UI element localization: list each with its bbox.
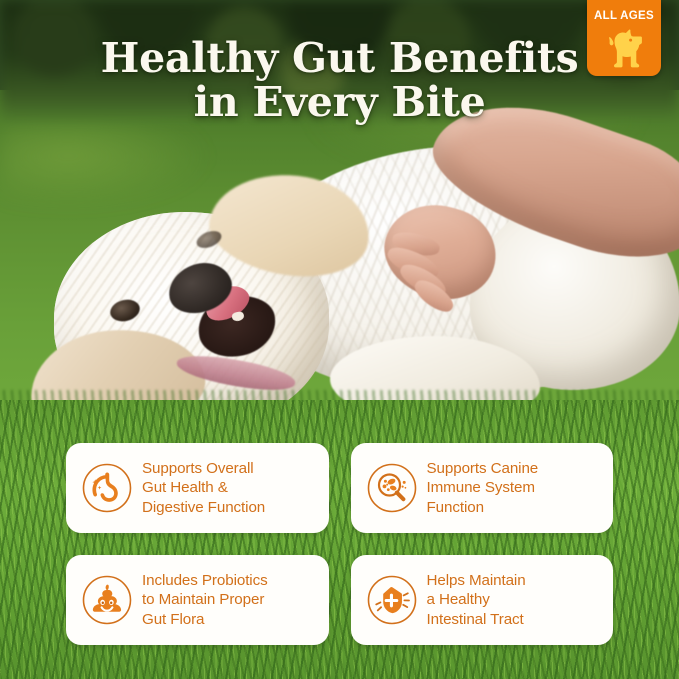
- benefit-card: Includes Probiotics to Maintain Proper G…: [66, 555, 329, 645]
- benefit-line: Immune System: [427, 478, 539, 497]
- benefit-line: to Maintain Proper: [142, 590, 268, 609]
- page-title: Healthy Gut Benefits in Every Bite: [0, 36, 679, 125]
- benefit-text: Helps Maintain a Healthy Intestinal Trac…: [427, 571, 526, 628]
- headline-line-1: Healthy Gut Benefits: [101, 34, 579, 82]
- benefits-grid: Supports Overall Gut Health & Digestive …: [66, 443, 613, 645]
- benefit-card: Supports Canine Immune System Function: [351, 443, 614, 533]
- smiling-poop-icon: [81, 574, 133, 626]
- product-lifestyle-image: ALL AGES Healthy Gut Benefits in Every B…: [0, 0, 679, 679]
- benefit-line: Supports Overall: [142, 459, 265, 478]
- shield-plus-icon: [366, 574, 418, 626]
- benefit-icon-wrap: [365, 573, 419, 627]
- benefit-line: Gut Flora: [142, 610, 268, 629]
- benefit-line: Function: [427, 498, 539, 517]
- benefit-line: Supports Canine: [427, 459, 539, 478]
- benefit-text: Supports Overall Gut Health & Digestive …: [142, 459, 265, 516]
- magnifier-microbes-icon: [366, 462, 418, 514]
- benefit-line: Helps Maintain: [427, 571, 526, 590]
- benefit-text: Supports Canine Immune System Function: [427, 459, 539, 516]
- all-ages-label: ALL AGES: [594, 11, 654, 23]
- benefit-card: Helps Maintain a Healthy Intestinal Trac…: [351, 555, 614, 645]
- benefit-icon-wrap: [365, 461, 419, 515]
- headline-line-2: in Every Bite: [0, 80, 679, 124]
- benefit-line: a Healthy: [427, 590, 526, 609]
- benefit-line: Includes Probiotics: [142, 571, 268, 590]
- benefit-line: Gut Health &: [142, 478, 265, 497]
- stomach-icon: [81, 462, 133, 514]
- benefit-icon-wrap: [80, 461, 134, 515]
- benefit-text: Includes Probiotics to Maintain Proper G…: [142, 571, 268, 628]
- benefit-card: Supports Overall Gut Health & Digestive …: [66, 443, 329, 533]
- benefit-line: Digestive Function: [142, 498, 265, 517]
- benefit-icon-wrap: [80, 573, 134, 627]
- benefit-line: Intestinal Tract: [427, 610, 526, 629]
